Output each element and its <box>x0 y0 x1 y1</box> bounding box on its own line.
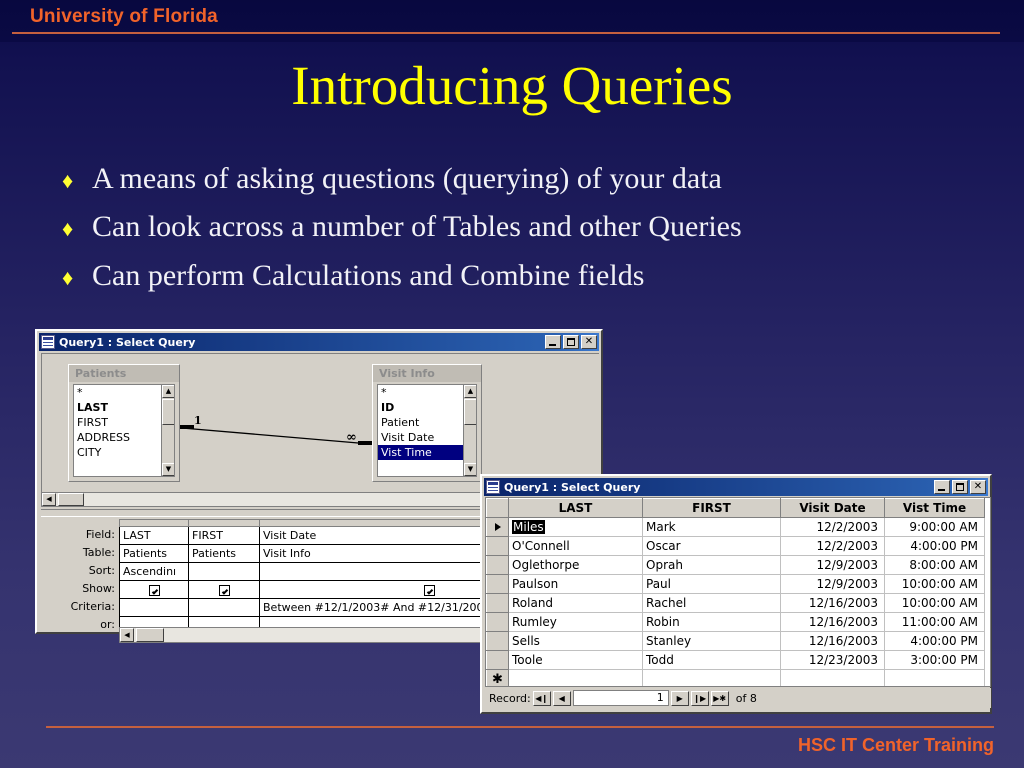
cell-last[interactable]: Sells <box>509 632 643 651</box>
qbe-cell-show[interactable] <box>189 581 260 599</box>
design-diagram-pane[interactable]: Patients * LAST FIRST ADDRESS CITY ▲ ▼ V… <box>41 353 599 493</box>
qbe-spacer <box>41 519 119 526</box>
page-title: Introducing Queries <box>0 57 1024 115</box>
cell-last[interactable]: Roland <box>509 594 643 613</box>
table-row[interactable]: Paulson Paul 12/9/2003 10:00:00 AM <box>487 575 985 594</box>
minimize-button[interactable] <box>934 480 950 494</box>
next-record-icon[interactable]: ▶ <box>671 691 689 706</box>
diamond-bullet-icon: ♦ <box>52 267 92 289</box>
field-item[interactable]: Visit Date <box>378 430 476 445</box>
field-list-scrollbar[interactable]: ▲ ▼ <box>463 385 476 476</box>
scroll-down-icon[interactable]: ▼ <box>162 463 175 476</box>
row-selector[interactable] <box>487 632 509 651</box>
table-row[interactable]: Oglethorpe Oprah 12/9/2003 8:00:00 AM <box>487 556 985 575</box>
cell-visit-date[interactable]: 12/23/2003 <box>781 651 885 670</box>
cell-first[interactable]: Todd <box>643 651 781 670</box>
cell-vist-time[interactable]: 4:00:00 PM <box>885 537 985 556</box>
table-row[interactable]: Toole Todd 12/23/2003 3:00:00 PM <box>487 651 985 670</box>
datasheet-window-title: Query1 : Select Query <box>504 481 934 494</box>
design-window-title: Query1 : Select Query <box>59 336 545 349</box>
table-row[interactable]: Rumley Robin 12/16/2003 11:00:00 AM <box>487 613 985 632</box>
new-record-icon[interactable]: ▶✱ <box>711 691 729 706</box>
design-window-titlebar[interactable]: Query1 : Select Query ✕ <box>39 333 599 351</box>
column-header-last[interactable]: LAST <box>509 499 643 518</box>
scrollbar-thumb[interactable] <box>58 493 84 506</box>
field-item[interactable]: LAST <box>74 400 174 415</box>
bullet-text: Can look across a number of Tables and o… <box>92 208 742 246</box>
qbe-label-show: Show: <box>41 580 119 598</box>
table-header-row: LAST FIRST Visit Date Vist Time <box>487 499 985 518</box>
field-list[interactable]: * ID Patient Visit Date Vist Time ▲ ▼ <box>377 384 477 477</box>
organization-title: University of Florida <box>30 6 218 28</box>
row-selector[interactable] <box>487 651 509 670</box>
cell-visit-date[interactable]: 12/9/2003 <box>781 575 885 594</box>
join-one-label: 1 <box>194 414 202 427</box>
field-item[interactable]: CITY <box>74 445 174 460</box>
list-item: ♦ Can look across a number of Tables and… <box>52 208 992 246</box>
query-icon <box>41 335 55 349</box>
new-record-selector[interactable]: ✱ <box>487 670 509 688</box>
qbe-cell-table[interactable]: Patients <box>120 545 189 563</box>
cell-first[interactable]: Oprah <box>643 556 781 575</box>
record-number-input[interactable]: 1 <box>573 690 669 706</box>
qbe-cell-criteria[interactable] <box>189 599 260 617</box>
scroll-left-icon[interactable]: ◀ <box>42 493 56 506</box>
qbe-row-labels: Field: Table: Sort: Show: Criteria: or: <box>41 519 119 634</box>
cell-first[interactable]: Mark <box>643 518 781 537</box>
last-record-icon[interactable]: ❙▶ <box>691 691 709 706</box>
bullet-text: A means of asking questions (querying) o… <box>92 160 722 198</box>
cell-last[interactable]: O'Connell <box>509 537 643 556</box>
bullet-text: Can perform Calculations and Combine fie… <box>92 257 644 295</box>
table-row[interactable]: Roland Rachel 12/16/2003 10:00:00 AM <box>487 594 985 613</box>
row-selector[interactable] <box>487 594 509 613</box>
cell-vist-time[interactable]: 10:00:00 AM <box>885 594 985 613</box>
scroll-up-icon[interactable]: ▲ <box>162 385 175 398</box>
diamond-bullet-icon: ♦ <box>52 218 92 240</box>
cell-first[interactable]: Oscar <box>643 537 781 556</box>
cell-vist-time[interactable]: 11:00:00 AM <box>885 613 985 632</box>
previous-record-icon[interactable]: ◀ <box>553 691 571 706</box>
field-item-selected[interactable]: Vist Time <box>378 445 476 460</box>
list-item: ♦ A means of asking questions (querying)… <box>52 160 992 198</box>
cell-vist-time[interactable]: 10:00:00 AM <box>885 575 985 594</box>
selected-cell-text: Miles <box>512 520 545 534</box>
scroll-up-icon[interactable]: ▲ <box>464 385 477 398</box>
footer-divider <box>46 726 994 728</box>
cell-last[interactable]: Miles <box>509 518 643 537</box>
datasheet-window-titlebar[interactable]: Query1 : Select Query ✕ <box>484 478 988 496</box>
cell-vist-time[interactable]: 4:00:00 PM <box>885 632 985 651</box>
row-selector[interactable] <box>487 613 509 632</box>
scrollbar-thumb[interactable] <box>464 399 477 425</box>
qbe-cell-field[interactable]: FIRST <box>189 527 260 545</box>
datasheet-grid[interactable]: LAST FIRST Visit Date Vist Time Miles Ma… <box>485 497 991 687</box>
header-divider <box>12 32 1000 34</box>
table-row[interactable]: Sells Stanley 12/16/2003 4:00:00 PM <box>487 632 985 651</box>
checkbox-checked-icon[interactable] <box>219 585 230 596</box>
cell-visit-date[interactable]: 12/2/2003 <box>781 518 885 537</box>
checkbox-checked-icon[interactable] <box>424 585 435 596</box>
minimize-button[interactable] <box>545 335 561 349</box>
maximize-button[interactable] <box>952 480 968 494</box>
field-item[interactable]: * <box>378 385 476 400</box>
row-selector-current[interactable] <box>487 518 509 537</box>
cell-visit-date[interactable] <box>781 670 885 688</box>
join-many-label: ∞ <box>346 430 357 445</box>
maximize-button[interactable] <box>563 335 579 349</box>
cell-first[interactable]: Stanley <box>643 632 781 651</box>
field-list[interactable]: * LAST FIRST ADDRESS CITY ▲ ▼ <box>73 384 175 477</box>
current-record-icon <box>495 523 501 531</box>
qbe-column-selector[interactable] <box>120 520 189 527</box>
footer-label: HSC IT Center Training <box>798 735 994 756</box>
column-header-vist-time[interactable]: Vist Time <box>885 499 985 518</box>
diamond-bullet-icon: ♦ <box>52 170 92 192</box>
datasheet-window-controls: ✕ <box>934 480 986 494</box>
table-row[interactable]: O'Connell Oscar 12/2/2003 4:00:00 PM <box>487 537 985 556</box>
table-row[interactable]: Miles Mark 12/2/2003 9:00:00 AM <box>487 518 985 537</box>
field-item[interactable]: ADDRESS <box>74 430 174 445</box>
field-item[interactable]: ID <box>378 400 476 415</box>
column-header-first[interactable]: FIRST <box>643 499 781 518</box>
slide-canvas: University of Florida Introducing Querie… <box>0 0 1024 768</box>
qbe-label-table: Table: <box>41 544 119 562</box>
qbe-label-field: Field: <box>41 526 119 544</box>
qbe-cell-criteria[interactable] <box>120 599 189 617</box>
asterisk-icon: ✱ <box>492 672 503 687</box>
row-selector[interactable] <box>487 556 509 575</box>
scrollbar-thumb[interactable] <box>162 399 175 425</box>
column-header-visit-date[interactable]: Visit Date <box>781 499 885 518</box>
qbe-cell-field[interactable]: LAST <box>120 527 189 545</box>
table-box-title: Patients <box>69 365 179 382</box>
table-box-visit-info[interactable]: Visit Info * ID Patient Visit Date Vist … <box>372 364 482 482</box>
qbe-label-sort: Sort: <box>41 562 119 580</box>
scroll-down-icon[interactable]: ▼ <box>464 463 477 476</box>
cell-first[interactable]: Rachel <box>643 594 781 613</box>
cell-last[interactable]: Rumley <box>509 613 643 632</box>
cell-first[interactable]: Robin <box>643 613 781 632</box>
close-icon[interactable]: ✕ <box>970 480 986 494</box>
query-icon <box>486 480 500 494</box>
qbe-cell-table[interactable]: Patients <box>189 545 260 563</box>
first-record-icon[interactable]: ◀❙ <box>533 691 551 706</box>
qbe-cell-sort[interactable]: Ascendinı <box>120 563 189 581</box>
record-count-label: of 8 <box>736 692 757 705</box>
query-datasheet-window[interactable]: Query1 : Select Query ✕ LAST FIRST Visit… <box>480 474 992 714</box>
qbe-cell-sort[interactable] <box>189 563 260 581</box>
cell-last[interactable] <box>509 670 643 688</box>
cell-vist-time[interactable] <box>885 670 985 688</box>
qbe-column-selector[interactable] <box>189 520 260 527</box>
table-box-title: Visit Info <box>373 365 481 382</box>
checkbox-checked-icon[interactable] <box>149 585 160 596</box>
qbe-label-or: or: <box>41 616 119 634</box>
table-box-patients[interactable]: Patients * LAST FIRST ADDRESS CITY ▲ ▼ <box>68 364 180 482</box>
field-list-scrollbar[interactable]: ▲ ▼ <box>161 385 174 476</box>
cell-visit-date[interactable]: 12/9/2003 <box>781 556 885 575</box>
row-selector[interactable] <box>487 537 509 556</box>
cell-visit-date[interactable]: 12/2/2003 <box>781 537 885 556</box>
cell-first[interactable] <box>643 670 781 688</box>
field-item[interactable]: * <box>74 385 174 400</box>
scrollbar-thumb[interactable] <box>136 628 164 642</box>
record-navigator[interactable]: Record: ◀❙ ◀ 1 ▶ ❙▶ ▶✱ of 8 <box>485 688 991 708</box>
qbe-cell-show[interactable] <box>120 581 189 599</box>
record-label: Record: <box>489 692 531 705</box>
cell-visit-date[interactable]: 12/16/2003 <box>781 613 885 632</box>
design-window-controls: ✕ <box>545 335 597 349</box>
results-table[interactable]: LAST FIRST Visit Date Vist Time Miles Ma… <box>486 498 985 687</box>
new-record-row[interactable]: ✱ <box>487 670 985 688</box>
row-selector[interactable] <box>487 575 509 594</box>
cell-vist-time[interactable]: 3:00:00 PM <box>885 651 985 670</box>
select-all-corner[interactable] <box>487 499 509 518</box>
cell-visit-date[interactable]: 12/16/2003 <box>781 632 885 651</box>
scroll-left-icon[interactable]: ◀ <box>120 628 134 642</box>
cell-last[interactable]: Oglethorpe <box>509 556 643 575</box>
list-item: ♦ Can perform Calculations and Combine f… <box>52 257 992 295</box>
qbe-label-criteria: Criteria: <box>41 598 119 616</box>
cell-last[interactable]: Toole <box>509 651 643 670</box>
bullet-list: ♦ A means of asking questions (querying)… <box>52 160 992 305</box>
field-item[interactable]: FIRST <box>74 415 174 430</box>
cell-vist-time[interactable]: 8:00:00 AM <box>885 556 985 575</box>
field-item[interactable]: Patient <box>378 415 476 430</box>
cell-vist-time[interactable]: 9:00:00 AM <box>885 518 985 537</box>
cell-first[interactable]: Paul <box>643 575 781 594</box>
close-icon[interactable]: ✕ <box>581 335 597 349</box>
cell-visit-date[interactable]: 12/16/2003 <box>781 594 885 613</box>
cell-last[interactable]: Paulson <box>509 575 643 594</box>
